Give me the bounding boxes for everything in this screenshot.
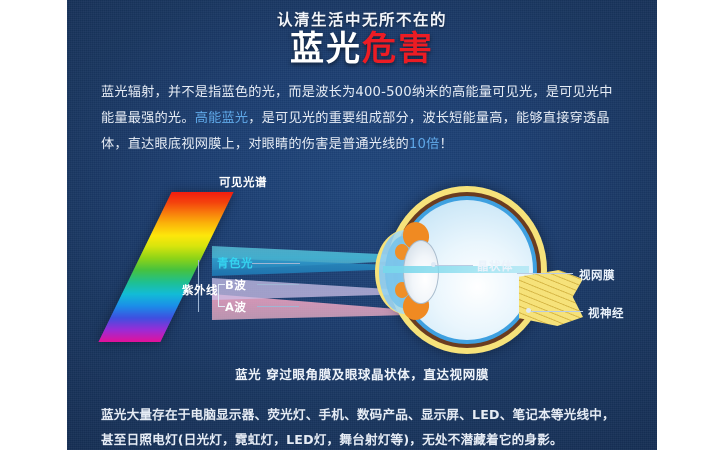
uv-bracket-bottom [218, 306, 225, 307]
intro-highlight-ten-times: 10倍 [409, 137, 440, 152]
retina-leader-line [517, 273, 573, 274]
uva-label: A波 [225, 299, 246, 315]
page-title: 蓝光危害 [67, 29, 657, 69]
footer-line-2: 霓虹灯，LED灯，舞台射灯等)，无处不潜藏着它的身影。 [235, 432, 563, 447]
spectrum-label: 可见光谱 [219, 174, 267, 190]
infographic-poster: 认清生活中无所不在的 蓝光危害 蓝光辐射，并不是指蓝色的光，而是波长为400-5… [0, 0, 726, 450]
title-word-blue-light: 蓝光 [290, 29, 362, 69]
uv-bracket-top [218, 284, 225, 285]
intro-line-3: ！ [440, 137, 453, 152]
lens-label: 晶状体 [477, 258, 513, 274]
optic-nerve-shape [519, 270, 583, 326]
optic-nerve-label: 视神经 [588, 305, 624, 321]
lens-leader-line [435, 265, 473, 266]
uv-bracket-vertical [218, 284, 219, 306]
uva-leader-line [257, 306, 299, 307]
cyan-light-leader-line [252, 263, 300, 264]
uv-label: 紫外线 [182, 282, 218, 298]
uvb-leader-line [257, 284, 299, 285]
optic-nerve-leader-line [531, 311, 583, 312]
footer-paragraph: 蓝光大量存在于电脑显示器、荧光灯、手机、数码产品、显示屏、LED、笔记本等光线中… [101, 402, 625, 450]
dark-blue-panel: 认清生活中无所不在的 蓝光危害 蓝光辐射，并不是指蓝色的光，而是波长为400-5… [67, 0, 657, 450]
diagram-caption: 蓝光 穿过眼角膜及眼球晶状体，直达视网膜 [67, 364, 657, 383]
retina-label: 视网膜 [579, 267, 615, 283]
eye-light-diagram: 可见光谱 青色光 紫外线 B波 A波 [67, 160, 657, 385]
title-word-harm: 危害 [362, 29, 434, 69]
cyan-light-label: 青色光 [217, 255, 253, 271]
intro-highlight-high-energy-blue: 高能蓝光 [195, 111, 249, 126]
page-kicker: 认清生活中无所不在的 [67, 8, 657, 30]
intro-paragraph: 蓝光辐射，并不是指蓝色的光，而是波长为400-500纳米的高能量可见光，是可见光… [101, 80, 625, 158]
uvb-label: B波 [225, 277, 246, 293]
